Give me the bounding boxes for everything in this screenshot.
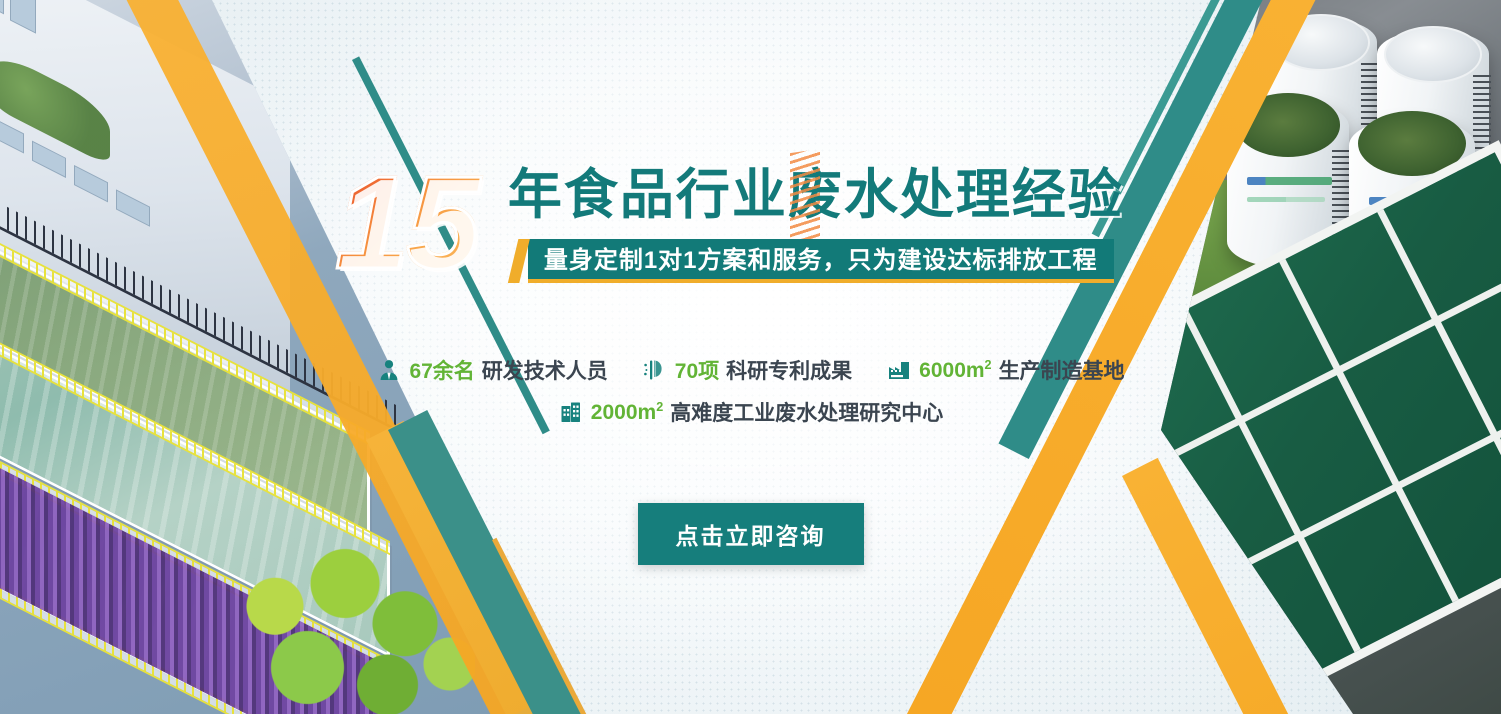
feature-value: 70项: [675, 355, 719, 385]
feature-row-1: 67余名 研发技术人员 70项: [376, 355, 1124, 385]
hero-banner: 15 年食品行业废水处理经验 量身定制1对1方案和服务，只为建设达标排放工程: [0, 0, 1501, 714]
feature-label: 研发技术人员: [482, 355, 608, 385]
factory-icon: [886, 357, 912, 383]
feature-value-superscript: 2: [985, 358, 992, 372]
feature-value: 67余名: [409, 355, 474, 385]
subtitle-text: 量身定制1对1方案和服务，只为建设达标排放工程: [528, 239, 1114, 283]
feature-staff: 67余名 研发技术人员: [376, 355, 607, 385]
feature-patents: 70项 科研专利成果: [642, 355, 852, 385]
building-icon: [558, 399, 584, 425]
feature-research-center: 2000m2 高难度工业废水处理研究中心: [558, 397, 943, 427]
page-title: 年食品行业废水处理经验: [508, 150, 1124, 229]
feature-production-base: 6000m2 生产制造基地: [886, 355, 1124, 385]
feature-label: 高难度工业废水处理研究中心: [670, 397, 943, 427]
subtitle-slash-accent: [508, 239, 530, 283]
feature-row-2: 2000m2 高难度工业废水处理研究中心: [558, 397, 943, 427]
years-number: 15: [335, 157, 492, 289]
banner-content: 15 年食品行业废水处理经验 量身定制1对1方案和服务，只为建设达标排放工程: [0, 0, 1501, 714]
headline-block: 15 年食品行业废水处理经验 量身定制1对1方案和服务，只为建设达标排放工程: [335, 150, 1124, 289]
feature-value: 2000m2: [591, 400, 663, 425]
headline-column: 年食品行业废水处理经验 量身定制1对1方案和服务，只为建设达标排放工程: [508, 150, 1124, 289]
feature-highlights: 67余名 研发技术人员 70项: [0, 355, 1501, 427]
subtitle-banner: 量身定制1对1方案和服务，只为建设达标排放工程: [508, 239, 1124, 283]
patent-icon: [642, 357, 668, 383]
feature-label: 生产制造基地: [999, 355, 1125, 385]
feature-label: 科研专利成果: [726, 355, 852, 385]
consult-now-button[interactable]: 点击立即咨询: [638, 503, 864, 565]
feature-value: 6000m2: [919, 358, 991, 383]
feature-value-superscript: 2: [656, 400, 663, 414]
user-icon: [376, 357, 402, 383]
